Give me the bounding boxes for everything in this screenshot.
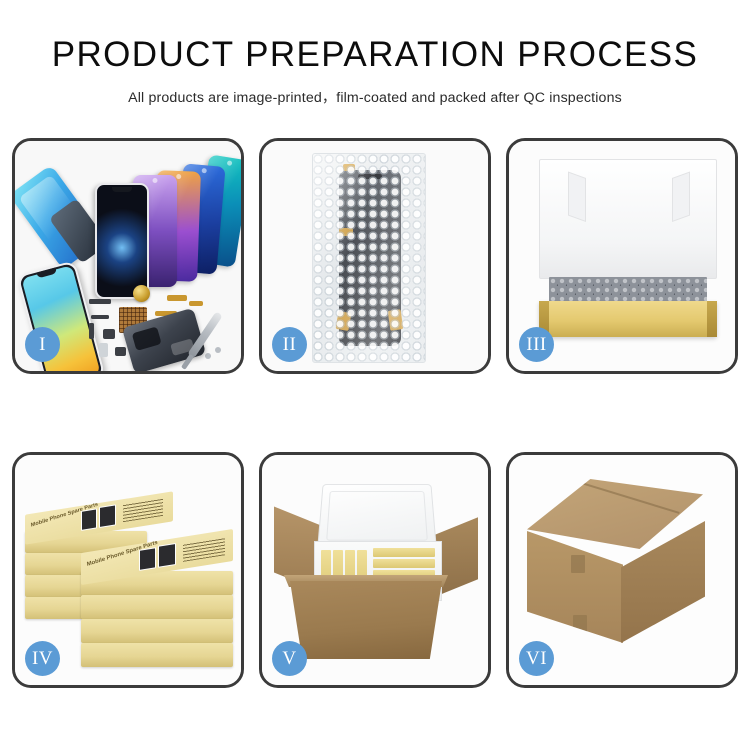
step-badge-1: I (25, 327, 60, 362)
flex-cable-icon (167, 295, 187, 301)
box-specs-back (123, 498, 163, 522)
page-title: PRODUCT PREPARATION PROCESS (0, 36, 750, 75)
phone-fan-group (93, 155, 241, 290)
styrofoam-lid-icon (317, 484, 437, 549)
process-step-panel-3[interactable]: III (506, 138, 738, 374)
battery-cell-icon (99, 343, 108, 357)
antenna-strip-icon (89, 299, 111, 304)
page-subtitle: All products are image-printed，film-coat… (0, 87, 750, 107)
bracket-icon (89, 323, 94, 339)
screw-small-icon (205, 353, 211, 359)
process-step-panel-5[interactable]: V (259, 452, 491, 688)
page-header: PRODUCT PREPARATION PROCESS All products… (0, 0, 750, 107)
speaker-module-icon (133, 285, 150, 302)
step-badge-6: VI (519, 641, 554, 676)
stacked-box-r3 (81, 619, 233, 643)
process-step-panel-4[interactable]: Mobile Phone Spare Parts Mobile Phone Sp… (12, 452, 244, 688)
plastic-gloss (313, 154, 425, 362)
bubble-wrap-bag-icon (312, 153, 426, 363)
box-window-back-2 (99, 504, 116, 528)
process-step-grid: I II (12, 138, 738, 688)
box-window-front-2 (158, 543, 176, 568)
step-badge-2: II (272, 327, 307, 362)
step-badge-4: IV (25, 641, 60, 676)
stacked-box-r4 (81, 643, 233, 667)
box-window-front-1 (139, 547, 156, 571)
box-specs-front (183, 536, 225, 562)
tray-side-right (707, 301, 717, 337)
process-step-panel-2[interactable]: II (259, 138, 491, 374)
screw-small-2-icon (215, 347, 221, 353)
process-step-panel-6[interactable]: VI (506, 452, 738, 688)
step-badge-5: V (272, 641, 307, 676)
yellow-box-flat-2 (373, 559, 435, 568)
kraft-box-tray-icon (539, 301, 717, 337)
flex-cable-small-icon (189, 301, 203, 306)
stacked-box-r2 (81, 595, 233, 619)
white-box-lid-icon (539, 159, 717, 279)
yellow-box-flat-1 (373, 548, 435, 557)
process-step-panel-1[interactable]: I (12, 138, 244, 374)
vibrator-icon (115, 347, 126, 356)
step-badge-3: III (519, 327, 554, 362)
connector-icon (91, 315, 109, 319)
lid-flap-left (568, 171, 586, 222)
camera-module-icon (103, 329, 115, 339)
lid-flap-right (672, 171, 690, 222)
carton-front-panel-icon (290, 581, 442, 659)
box-window-back-1 (81, 508, 97, 531)
stacked-boxes-group: Mobile Phone Spare Parts Mobile Phone Sp… (23, 485, 239, 671)
carton-tab-upper (571, 555, 585, 573)
